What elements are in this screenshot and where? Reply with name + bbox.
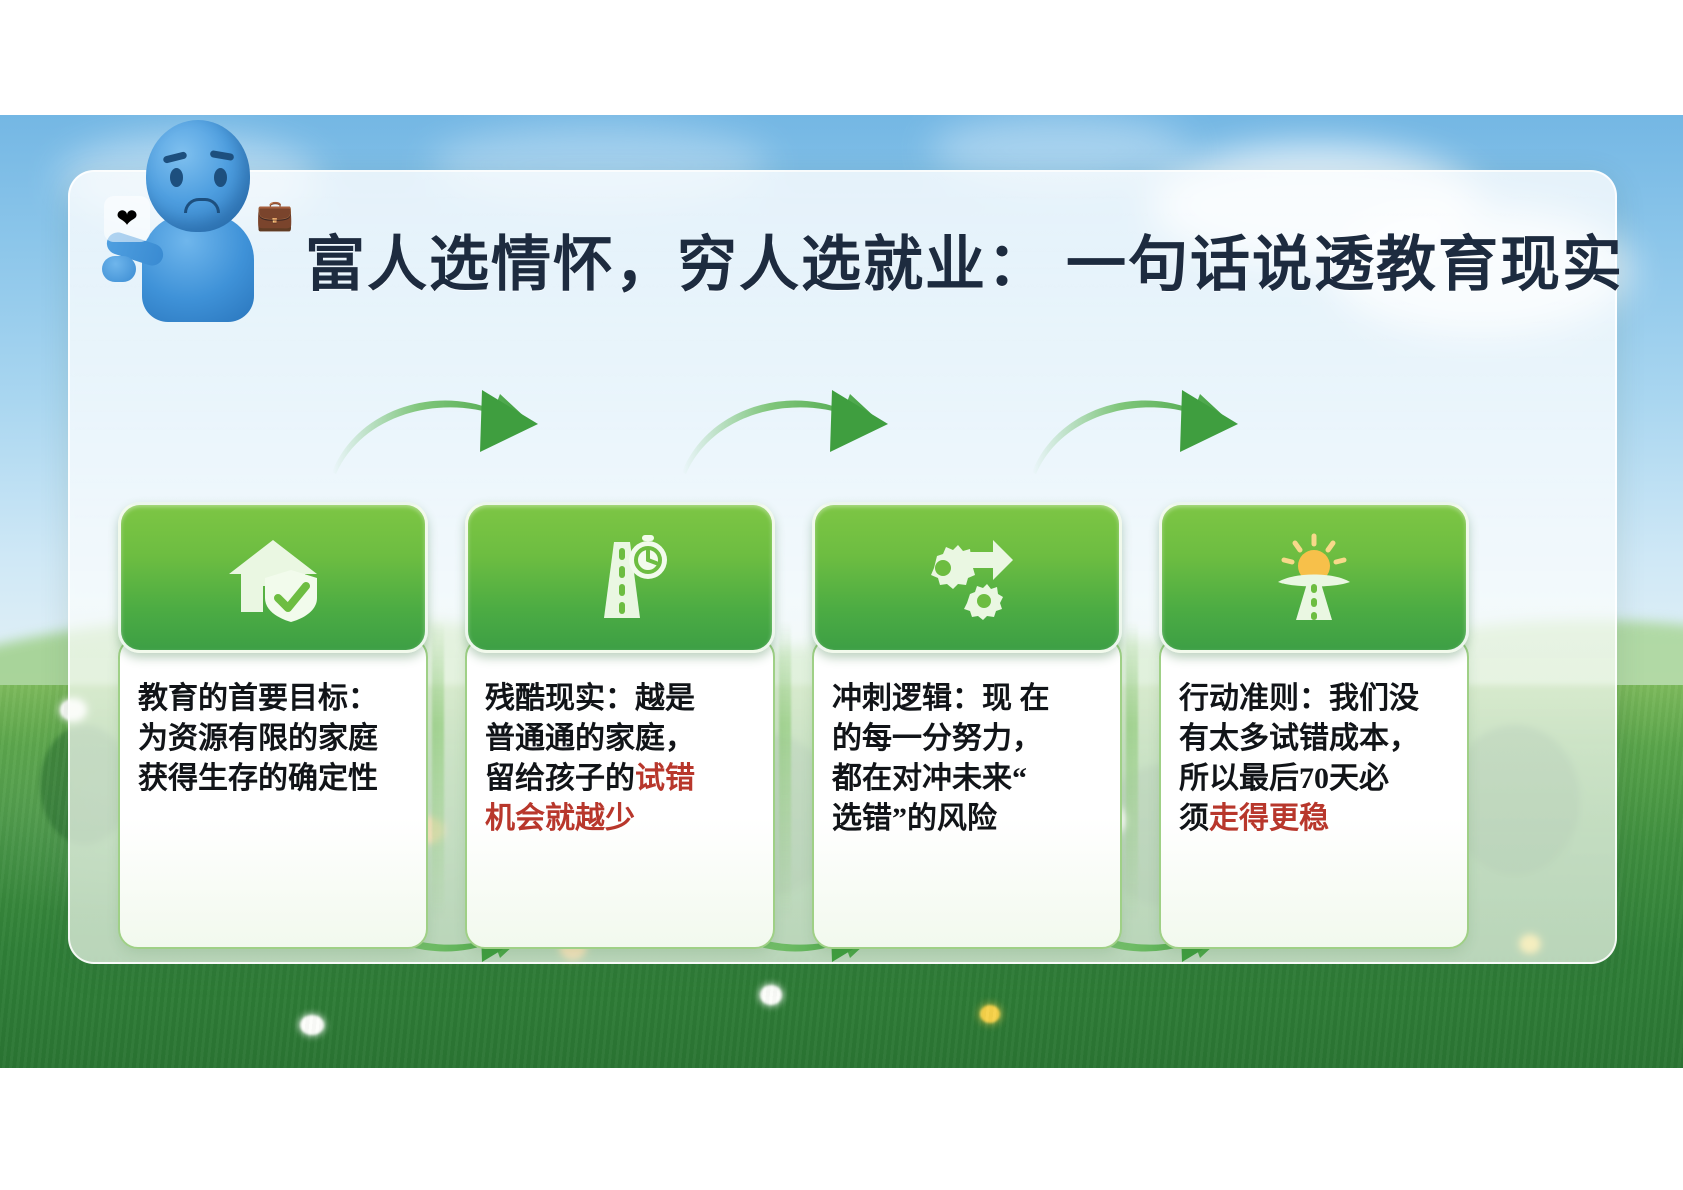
card-text-line: 留给孩子的试错 [485, 759, 759, 799]
highlighted-text: 走得更稳 [1209, 802, 1329, 835]
gears-arrow-icon [915, 530, 1019, 626]
house-shield-check-icon [221, 530, 325, 626]
card-text-line: 机会就越少 [485, 799, 759, 839]
highlighted-text: 机会就越少 [485, 802, 635, 835]
mascot-eye [170, 168, 183, 187]
card-text-line: 教育的首要目标： [138, 679, 412, 719]
mascot-eye [214, 168, 227, 187]
card-text-line: 所以最后70天必 [1179, 759, 1453, 799]
card-text-line: 有太多试错成本， [1179, 719, 1453, 759]
slide-header: ❤ 💼 富人选情怀，穷人选就业： 一句话说透教育现实 [70, 172, 1615, 372]
heart-icon: ❤ [104, 196, 150, 242]
plain-text: 须 [1179, 802, 1209, 835]
road-sunrise-icon [1262, 530, 1366, 626]
plain-text: 的每一分努力， [832, 722, 1042, 755]
content-panel: ❤ 💼 富人选情怀，穷人选就业： 一句话说透教育现实 [68, 170, 1617, 964]
road-stopwatch-icon [568, 530, 672, 626]
plain-text: 冲刺逻辑：现 在 [832, 682, 1050, 715]
scene-background: ❤ 💼 富人选情怀，穷人选就业： 一句话说透教育现实 [0, 115, 1683, 1068]
plain-text: 获得生存的确定性 [138, 762, 378, 795]
card-text-line: 为资源有限的家庭 [138, 719, 412, 759]
plain-text: 教育的首要目标： [138, 682, 378, 715]
card-text-line: 选错”的风险 [832, 799, 1106, 839]
card-3-header [812, 502, 1122, 653]
mascot-head [146, 120, 250, 232]
card-3-text: 冲刺逻辑：现 在的每一分努力，都在对冲未来“选错”的风险 [832, 679, 1106, 839]
card-2-text: 残酷现实：越是普通通的家庭，留给孩子的试错机会就越少 [485, 679, 759, 839]
card-3-body: 冲刺逻辑：现 在的每一分努力，都在对冲未来“选错”的风险 [812, 637, 1122, 949]
card-text-line: 普通通的家庭， [485, 719, 759, 759]
plain-text: 选错”的风险 [832, 802, 997, 835]
card-2[interactable]: 残酷现实：越是普通通的家庭，留给孩子的试错机会就越少 [465, 502, 775, 949]
mascot-illustration: ❤ 💼 [100, 115, 290, 330]
mascot-hand [102, 256, 136, 282]
card-text-line: 都在对冲未来“ [832, 759, 1106, 799]
arrow-card2-to-card3 [682, 380, 912, 480]
card-row: 教育的首要目标：为资源有限的家庭获得生存的确定性 [70, 502, 1615, 922]
slide-canvas: ❤ 💼 富人选情怀，穷人选就业： 一句话说透教育现实 [0, 0, 1683, 1190]
card-1-body: 教育的首要目标：为资源有限的家庭获得生存的确定性 [118, 637, 428, 949]
plain-text: 普通通的家庭， [485, 722, 695, 755]
card-4[interactable]: 行动准则：我们没有太多试错成本，所以最后70天必须走得更稳 [1159, 502, 1469, 949]
plain-text: 行动准则：我们没 [1179, 682, 1419, 715]
card-1-header [118, 502, 428, 653]
card-2-body: 残酷现实：越是普通通的家庭，留给孩子的试错机会就越少 [465, 637, 775, 949]
page-title: 富人选情怀，穷人选就业： 一句话说透教育现实 [305, 216, 1595, 303]
card-4-text: 行动准则：我们没有太多试错成本，所以最后70天必须走得更稳 [1179, 679, 1453, 839]
card-1[interactable]: 教育的首要目标：为资源有限的家庭获得生存的确定性 [118, 502, 428, 949]
briefcase-icon: 💼 [250, 192, 300, 240]
arrow-card1-to-card2 [332, 380, 562, 480]
card-2-header [465, 502, 775, 653]
plain-text: 有太多试错成本， [1179, 722, 1419, 755]
card-text-line: 残酷现实：越是 [485, 679, 759, 719]
card-text-line: 的每一分努力， [832, 719, 1106, 759]
plain-text: 都在对冲未来“ [832, 762, 1027, 795]
card-4-header [1159, 502, 1469, 653]
arrow-card3-to-card4 [1032, 380, 1262, 480]
plain-text: 残酷现实：越是 [485, 682, 695, 715]
card-4-body: 行动准则：我们没有太多试错成本，所以最后70天必须走得更稳 [1159, 637, 1469, 949]
plain-text: 留给孩子的 [485, 762, 635, 795]
plain-text: 所以最后70天必 [1179, 762, 1389, 795]
plain-text: 为资源有限的家庭 [138, 722, 378, 755]
card-text-line: 行动准则：我们没 [1179, 679, 1453, 719]
highlighted-text: 试错 [635, 762, 695, 795]
card-text-line: 冲刺逻辑：现 在 [832, 679, 1106, 719]
card-3[interactable]: 冲刺逻辑：现 在的每一分努力，都在对冲未来“选错”的风险 [812, 502, 1122, 949]
card-text-line: 须走得更稳 [1179, 799, 1453, 839]
card-text-line: 获得生存的确定性 [138, 759, 412, 799]
card-1-text: 教育的首要目标：为资源有限的家庭获得生存的确定性 [138, 679, 412, 799]
